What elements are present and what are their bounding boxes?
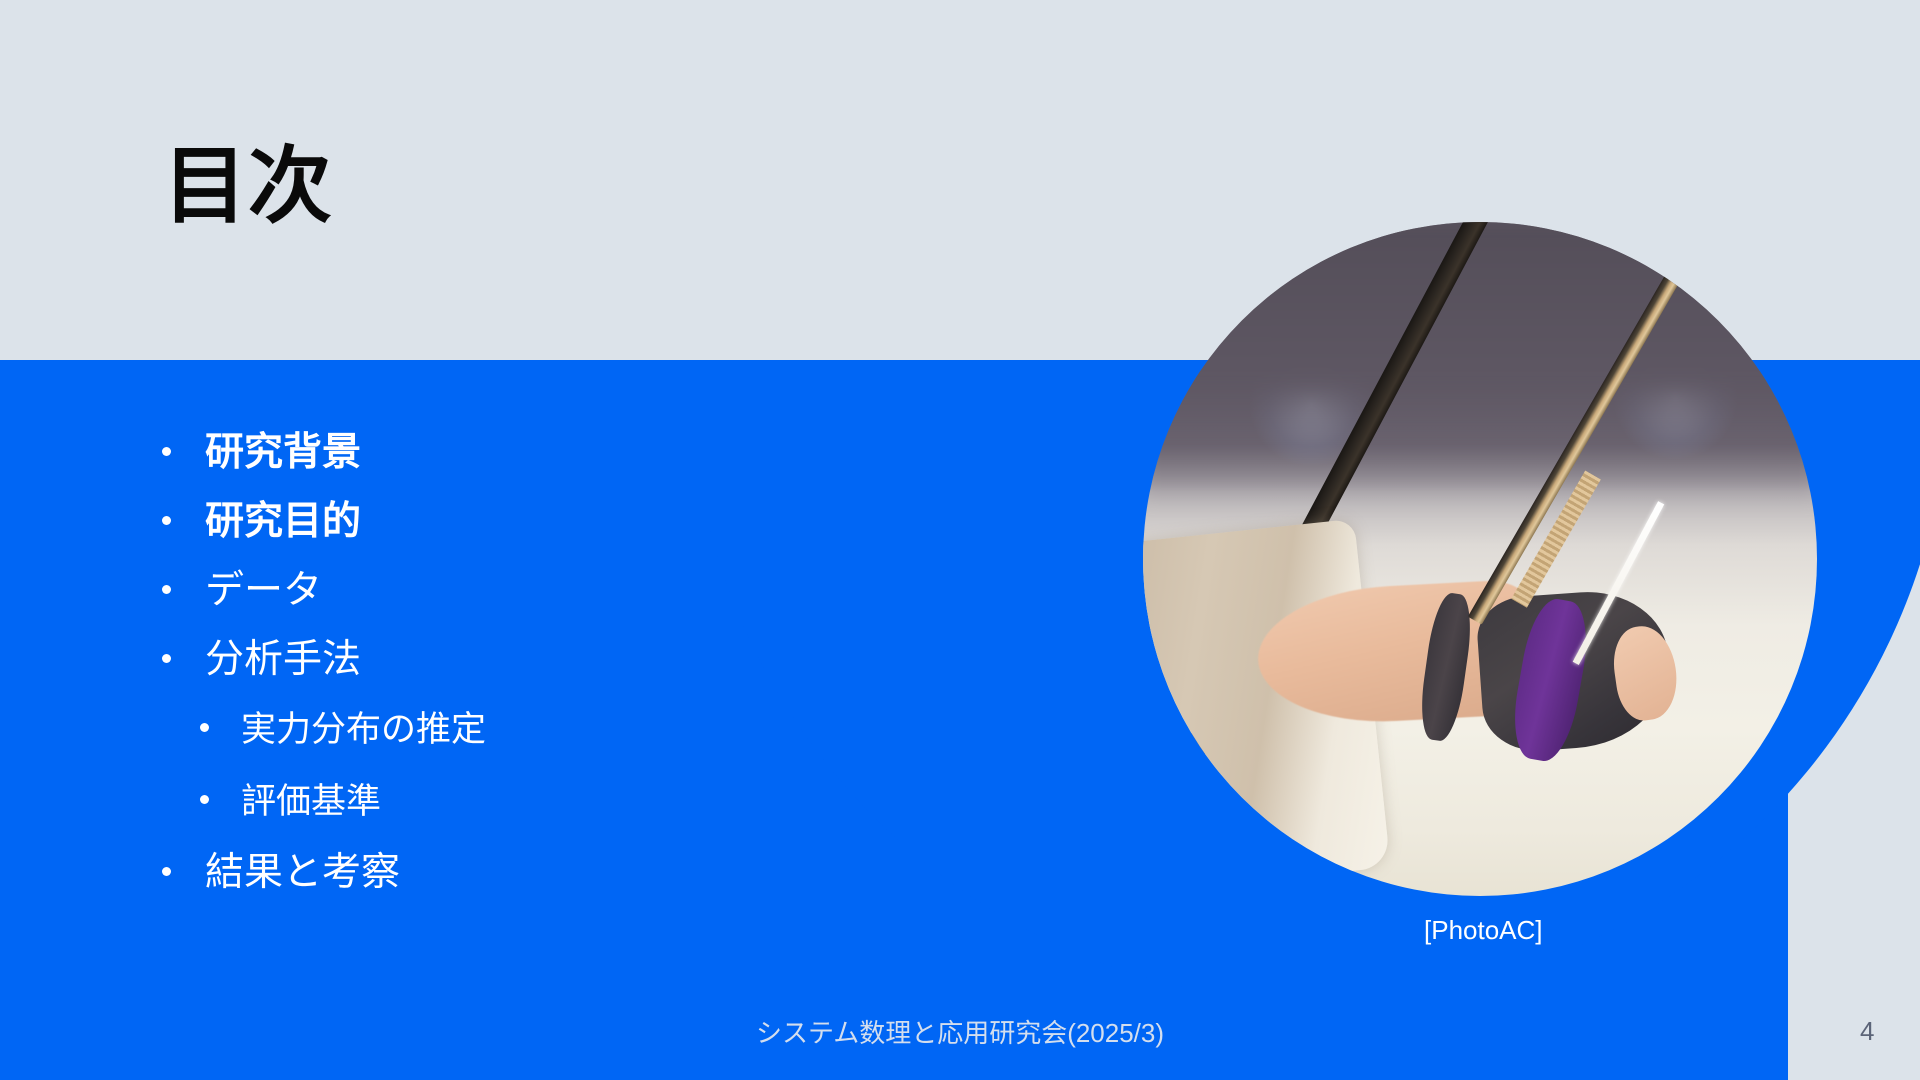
photo-background-wall xyxy=(1143,222,1817,505)
bullet-icon xyxy=(162,516,171,525)
archery-photo xyxy=(1143,222,1817,896)
bullet-icon xyxy=(200,795,209,804)
list-item-label: 結果と考察 xyxy=(205,838,400,907)
page-title: 目次 xyxy=(163,140,333,232)
bullet-icon xyxy=(162,585,171,594)
list-item[interactable]: データ xyxy=(150,556,870,625)
list-item[interactable]: 研究背景 xyxy=(150,418,870,487)
photo-credit-caption: [PhotoAC] xyxy=(1424,915,1543,946)
bullet-icon xyxy=(200,723,209,732)
footer-conference-label: システム数理と応用研究会(2025/3) xyxy=(0,1013,1920,1050)
toc-list: 研究背景 研究目的 データ 分析手法 実力分布の推定 評価基準 結果と考察 xyxy=(150,418,870,907)
list-item[interactable]: 分析手法 xyxy=(150,625,870,694)
list-item[interactable]: 結果と考察 xyxy=(150,838,870,907)
list-item-label: 分析手法 xyxy=(205,625,361,694)
slide-canvas: 目次 研究背景 研究目的 データ 分析手法 実力分布の推定 評価基準 xyxy=(0,0,1920,1080)
bullet-icon xyxy=(162,867,171,876)
list-item-label: 評価基準 xyxy=(241,766,381,838)
list-item[interactable]: 研究目的 xyxy=(150,487,870,556)
list-item-label: 研究背景 xyxy=(205,418,361,487)
list-item-label: 実力分布の推定 xyxy=(241,694,486,766)
bullet-icon xyxy=(162,447,171,456)
page-number: 4 xyxy=(1860,1016,1874,1047)
list-item-label: 研究目的 xyxy=(205,487,361,556)
list-item[interactable]: 実力分布の推定 xyxy=(150,694,870,766)
bullet-icon xyxy=(162,654,171,663)
list-item[interactable]: 評価基準 xyxy=(150,766,870,838)
list-item-label: データ xyxy=(205,556,322,625)
archery-photo-image xyxy=(1143,222,1817,896)
